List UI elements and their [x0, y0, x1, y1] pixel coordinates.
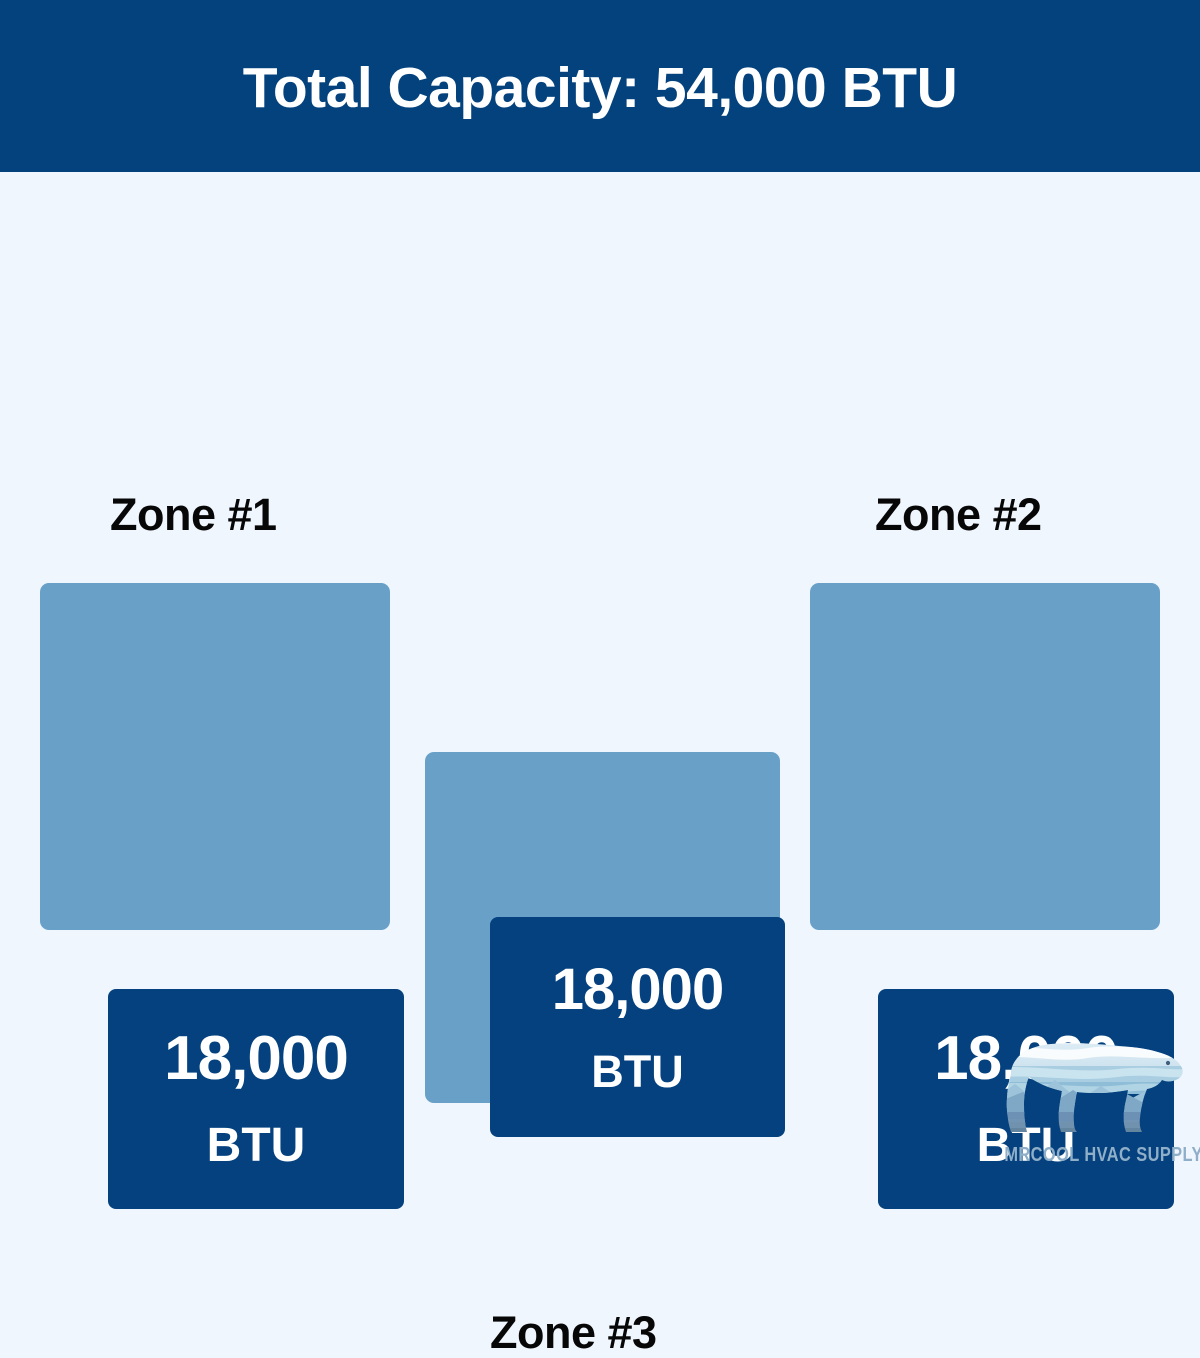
zone-capacity-value: 18,000	[552, 961, 723, 1019]
page-title: Total Capacity: 54,000 BTU	[243, 60, 958, 117]
zone-card: Zone #1 18,000 BTU	[0, 240, 430, 710]
zone-capacity-panel: 18,000 BTU	[108, 989, 404, 1209]
capacity-infographic: Total Capacity: 54,000 BTU Zone #1 18,00…	[0, 0, 1200, 1200]
zone-capacity-unit: BTU	[591, 1049, 683, 1094]
zone-outer-frame: 18,000 BTU	[40, 583, 390, 930]
zone-capacity-value: 18,000	[164, 1028, 348, 1090]
zone-capacity-unit: BTU	[207, 1122, 306, 1170]
polar-bear-icon	[993, 1022, 1193, 1142]
zone-label: Zone #2	[875, 492, 1042, 537]
zone-outer-frame: 18,000 BTU	[425, 752, 780, 1103]
zone-label: Zone #3	[490, 1310, 657, 1355]
brand-logo: MRCOOL HVAC SUPPLY	[985, 1022, 1200, 1194]
header-band: Total Capacity: 54,000 BTU	[0, 0, 1200, 172]
zone-label: Zone #1	[110, 492, 277, 537]
zone-capacity-panel: 18,000 BTU	[490, 917, 785, 1137]
brand-name: MRCOOL HVAC SUPPLY	[1004, 1144, 1180, 1167]
zone-outer-frame: 18,000 BTU	[810, 583, 1160, 930]
zone-card: Zone #2 18,000 BTU	[770, 240, 1200, 710]
zone-card: Zone #3 18,000 BTU	[390, 650, 820, 1120]
